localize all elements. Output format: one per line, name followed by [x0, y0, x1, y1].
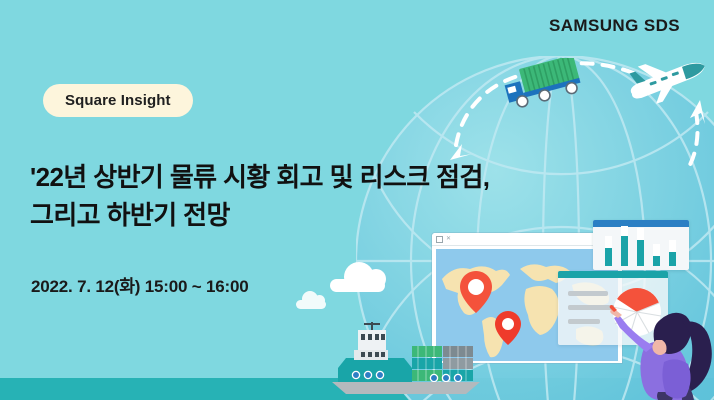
promo-banner: ✕ — [0, 0, 714, 400]
woman-presenter-icon — [598, 296, 714, 400]
window-close-icon[interactable]: ✕ — [446, 236, 451, 242]
airplane-icon — [620, 52, 714, 112]
container-truck-icon — [498, 58, 584, 114]
cloud-icon — [296, 300, 326, 309]
event-datetime: 2022. 7. 12(화) 15:00 ~ 16:00 — [31, 272, 249, 297]
cloud-icon — [330, 279, 385, 292]
samsung-sds-logo: SAMSUNG SDS — [549, 16, 680, 36]
title-line-1: '22년 상반기 물류 시황 회고 및 리스크 점검, — [30, 158, 650, 196]
panel-title-bar — [558, 271, 668, 278]
square-insight-badge[interactable]: Square Insight — [43, 84, 193, 117]
title-line-2: 그리고 하반기 전망 — [30, 196, 650, 234]
text-placeholder-line — [568, 319, 600, 324]
window-minimize-icon[interactable] — [436, 236, 443, 243]
page-title: '22년 상반기 물류 시황 회고 및 리스크 점검, 그리고 하반기 전망 — [30, 158, 650, 234]
cargo-ship-icon — [316, 322, 494, 400]
